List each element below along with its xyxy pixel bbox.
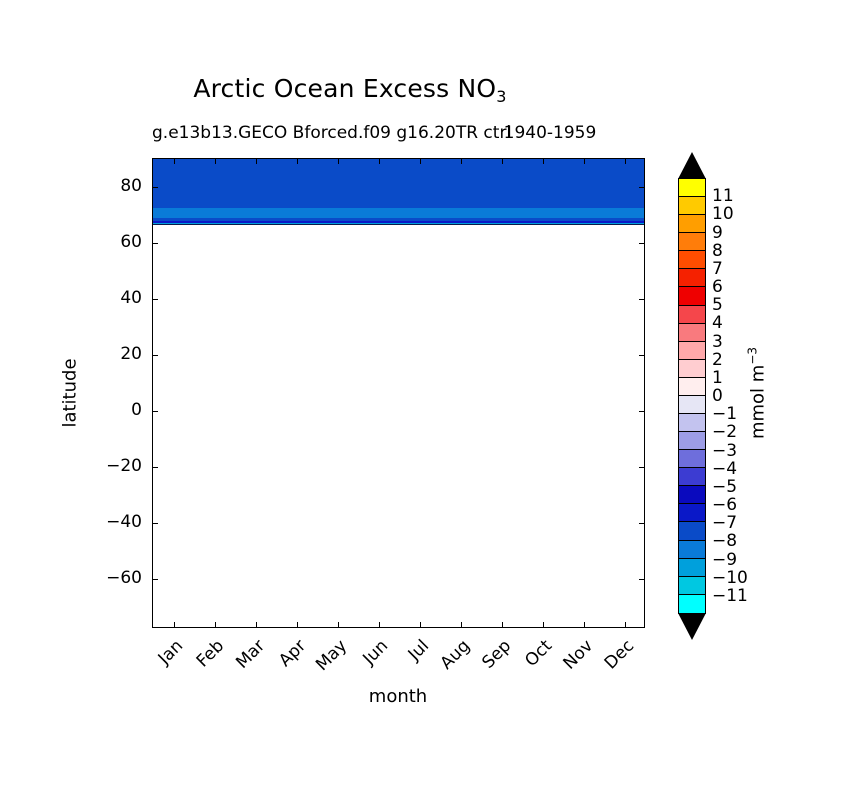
colorbar-title: mmol m−3 bbox=[746, 347, 769, 439]
y-tick-mark bbox=[153, 187, 158, 188]
y-tick-mark bbox=[153, 299, 158, 300]
colorbar-tick-label: 7 bbox=[712, 259, 723, 279]
colorbar-tick-label: 4 bbox=[712, 313, 723, 333]
y-axis-title: latitude bbox=[60, 358, 81, 427]
colorbar-swatch bbox=[679, 179, 705, 197]
colorbar-swatch bbox=[679, 269, 705, 287]
y-tick-mark bbox=[153, 523, 158, 524]
colorbar bbox=[678, 152, 708, 640]
x-tick-mark bbox=[461, 622, 462, 627]
x-tick-mark bbox=[297, 159, 298, 164]
colorbar-tick-label: 5 bbox=[712, 295, 723, 315]
colorbar-swatches bbox=[678, 178, 706, 614]
x-tick-mark bbox=[584, 159, 585, 164]
x-tick-label: Aug bbox=[430, 636, 474, 680]
colorbar-tick-label: −7 bbox=[712, 513, 737, 533]
colorbar-swatch bbox=[679, 522, 705, 540]
colorbar-tick-label: −4 bbox=[712, 459, 737, 479]
y-tick-label: 80 bbox=[90, 176, 142, 196]
x-axis-title: month bbox=[369, 686, 427, 707]
x-tick-mark bbox=[256, 622, 257, 627]
colorbar-swatch bbox=[679, 396, 705, 414]
colorbar-tick-label: 9 bbox=[712, 223, 723, 243]
x-tick-label: Jun bbox=[348, 636, 392, 680]
y-tick-mark bbox=[639, 411, 644, 412]
colorbar-tick-label: −11 bbox=[712, 586, 748, 606]
y-tick-mark bbox=[153, 579, 158, 580]
x-tick-label: Jul bbox=[389, 636, 433, 680]
colorbar-tick-label: 8 bbox=[712, 241, 723, 261]
x-tick-label: Feb bbox=[184, 636, 228, 680]
colorbar-swatch bbox=[679, 215, 705, 233]
subtitle-year-range: 1940-1959 bbox=[0, 123, 849, 143]
x-tick-mark bbox=[174, 622, 175, 627]
contour-band bbox=[153, 223, 644, 226]
colorbar-tick-label: −1 bbox=[712, 404, 737, 424]
colorbar-tick-label: 0 bbox=[712, 386, 723, 406]
colorbar-swatch bbox=[679, 541, 705, 559]
x-tick-mark bbox=[502, 159, 503, 164]
colorbar-swatch bbox=[679, 306, 705, 324]
colorbar-swatch bbox=[679, 468, 705, 486]
y-tick-label: 20 bbox=[90, 344, 142, 364]
x-tick-label: Nov bbox=[554, 636, 598, 680]
x-tick-label: Oct bbox=[513, 636, 557, 680]
colorbar-unit-text: mmol m bbox=[748, 365, 769, 439]
x-tick-mark bbox=[420, 622, 421, 627]
x-tick-label: Sep bbox=[472, 636, 516, 680]
colorbar-tick-label: 1 bbox=[712, 368, 723, 388]
colorbar-tick-label: −5 bbox=[712, 477, 737, 497]
colorbar-swatch bbox=[679, 432, 705, 450]
colorbar-swatch bbox=[679, 233, 705, 251]
x-tick-mark bbox=[379, 622, 380, 627]
x-tick-mark bbox=[379, 159, 380, 164]
x-tick-label: Jan bbox=[143, 636, 187, 680]
colorbar-swatch bbox=[679, 577, 705, 595]
colorbar-tick-label: 11 bbox=[712, 186, 734, 206]
y-tick-mark bbox=[639, 579, 644, 580]
x-tick-mark bbox=[338, 159, 339, 164]
x-tick-mark bbox=[215, 159, 216, 164]
y-tick-label: 40 bbox=[90, 288, 142, 308]
colorbar-tick-label: 10 bbox=[712, 204, 734, 224]
y-tick-label: −40 bbox=[90, 512, 142, 532]
title-text: Arctic Ocean Excess NO bbox=[193, 74, 496, 103]
colorbar-swatch bbox=[679, 287, 705, 305]
colorbar-tick-label: 2 bbox=[712, 350, 723, 370]
y-tick-label: −20 bbox=[90, 456, 142, 476]
x-tick-label: Dec bbox=[595, 636, 639, 680]
x-tick-mark bbox=[338, 622, 339, 627]
colorbar-tick-label: −3 bbox=[712, 441, 737, 461]
y-tick-mark bbox=[639, 523, 644, 524]
colorbar-unit-exponent: −3 bbox=[746, 347, 760, 365]
colorbar-tick-label: −8 bbox=[712, 531, 737, 551]
x-tick-mark bbox=[502, 622, 503, 627]
x-tick-mark bbox=[584, 622, 585, 627]
y-tick-label: 0 bbox=[90, 400, 142, 420]
y-tick-mark bbox=[153, 243, 158, 244]
y-tick-label: 60 bbox=[90, 232, 142, 252]
y-tick-mark bbox=[639, 467, 644, 468]
y-tick-mark bbox=[153, 355, 158, 356]
y-tick-mark bbox=[639, 355, 644, 356]
y-tick-mark bbox=[639, 187, 644, 188]
colorbar-tick-label: −9 bbox=[712, 550, 737, 570]
plot-area bbox=[152, 158, 645, 628]
page-title: Arctic Ocean Excess NO3 bbox=[0, 74, 700, 103]
y-tick-mark bbox=[639, 299, 644, 300]
x-tick-mark bbox=[297, 622, 298, 627]
x-tick-mark bbox=[543, 622, 544, 627]
colorbar-swatch bbox=[679, 342, 705, 360]
colorbar-swatch bbox=[679, 324, 705, 342]
x-tick-mark bbox=[420, 159, 421, 164]
x-tick-mark bbox=[625, 622, 626, 627]
y-tick-mark bbox=[153, 411, 158, 412]
colorbar-swatch bbox=[679, 486, 705, 504]
colorbar-swatch bbox=[679, 360, 705, 378]
colorbar-swatch bbox=[679, 414, 705, 432]
x-tick-mark bbox=[215, 622, 216, 627]
y-tick-label: −60 bbox=[90, 568, 142, 588]
colorbar-swatch bbox=[679, 595, 705, 613]
x-tick-mark bbox=[256, 159, 257, 164]
colorbar-tick-label: −10 bbox=[712, 568, 748, 588]
colorbar-swatch bbox=[679, 559, 705, 577]
colorbar-swatch bbox=[679, 251, 705, 269]
x-tick-label: May bbox=[307, 636, 351, 680]
x-tick-label: Apr bbox=[266, 636, 310, 680]
colorbar-extend-top-triangle-icon bbox=[678, 152, 706, 179]
colorbar-tick-label: 6 bbox=[712, 277, 723, 297]
contour-band bbox=[153, 159, 644, 209]
colorbar-tick-label: 3 bbox=[712, 332, 723, 352]
y-tick-mark bbox=[639, 243, 644, 244]
colorbar-tick-label: −6 bbox=[712, 495, 737, 515]
colorbar-swatch bbox=[679, 197, 705, 215]
title-subscript: 3 bbox=[496, 87, 506, 106]
x-tick-mark bbox=[461, 159, 462, 164]
colorbar-swatch bbox=[679, 504, 705, 522]
x-tick-label: Mar bbox=[225, 636, 269, 680]
colorbar-swatch bbox=[679, 378, 705, 396]
y-tick-mark bbox=[153, 467, 158, 468]
colorbar-tick-label: −2 bbox=[712, 422, 737, 442]
x-tick-mark bbox=[625, 159, 626, 164]
x-tick-mark bbox=[543, 159, 544, 164]
colorbar-extend-bottom-triangle-icon bbox=[678, 613, 706, 640]
figure-canvas: Arctic Ocean Excess NO3 g.e13b13.GECO Bf… bbox=[0, 0, 849, 788]
x-tick-mark bbox=[174, 159, 175, 164]
colorbar-swatch bbox=[679, 450, 705, 468]
